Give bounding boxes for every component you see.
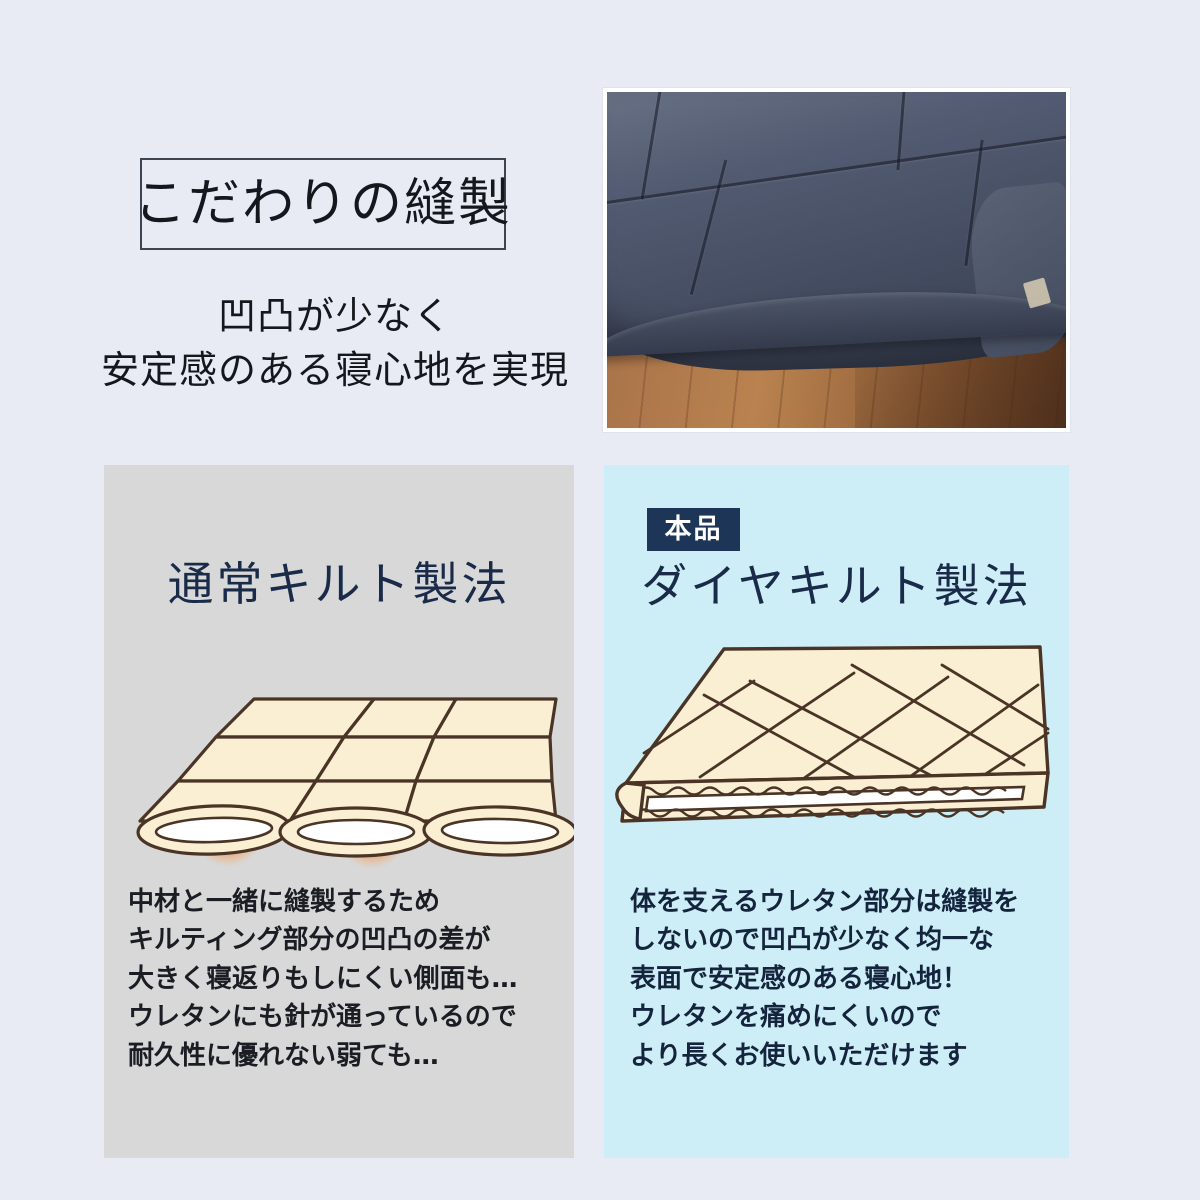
comparison-panel-product: 本品 ダイヤキルト製法 [604, 465, 1069, 1158]
description-line: キルティング部分の凹凸の差が [128, 921, 558, 959]
page-title: こだわりの縫製 [134, 178, 512, 230]
panel-description-product: 体を支えるウレタン部分は縫製を しないので凹凸が少なく均一な 表面で安定感のある… [630, 883, 1054, 1075]
quilt-seam [641, 92, 666, 199]
subtitle-line-1: 凹凸が少なく [30, 290, 640, 344]
panel-description-conventional: 中材と一緒に縫製するため キルティング部分の凹凸の差が 大きく寝返りもしにくい側… [128, 883, 558, 1075]
diamond-quilt-illustration [604, 625, 1069, 875]
comparison-panel-conventional: 通常キルト製法 [104, 465, 574, 1158]
description-line: 体を支えるウレタン部分は縫製を [630, 883, 1054, 921]
description-line: 耐久性に優れない弱ても… [128, 1037, 558, 1075]
description-line: しないので凹凸が少なく均一な [630, 921, 1054, 959]
product-photo-frame [603, 88, 1070, 432]
description-line: ウレタンを痛めにくいので [630, 998, 1054, 1036]
panel-title-product: ダイヤキルト製法 [604, 563, 1069, 609]
subtitle-line-2: 安定感のある寝心地を実現 [30, 344, 640, 398]
section-heading-box: こだわりの縫製 [140, 158, 506, 250]
description-line: ウレタンにも針が通っているので [128, 998, 558, 1036]
status-badge: 本品 [647, 508, 740, 551]
subtitle: 凹凸が少なく 安定感のある寝心地を実現 [30, 290, 640, 398]
description-line: より長くお使いいただけます [630, 1037, 1054, 1075]
description-line: 大きく寝返りもしにくい側面も… [128, 960, 558, 998]
quilt-seam [690, 159, 727, 294]
panel-title-conventional: 通常キルト製法 [104, 561, 574, 607]
conventional-quilt-illustration [104, 625, 574, 875]
status-badge-label: 本品 [665, 516, 723, 543]
description-line: 中材と一緒に縫製するため [128, 883, 558, 921]
description-line: 表面で安定感のある寝心地！ [630, 960, 1054, 998]
futon-mattress-photo [607, 92, 1066, 428]
